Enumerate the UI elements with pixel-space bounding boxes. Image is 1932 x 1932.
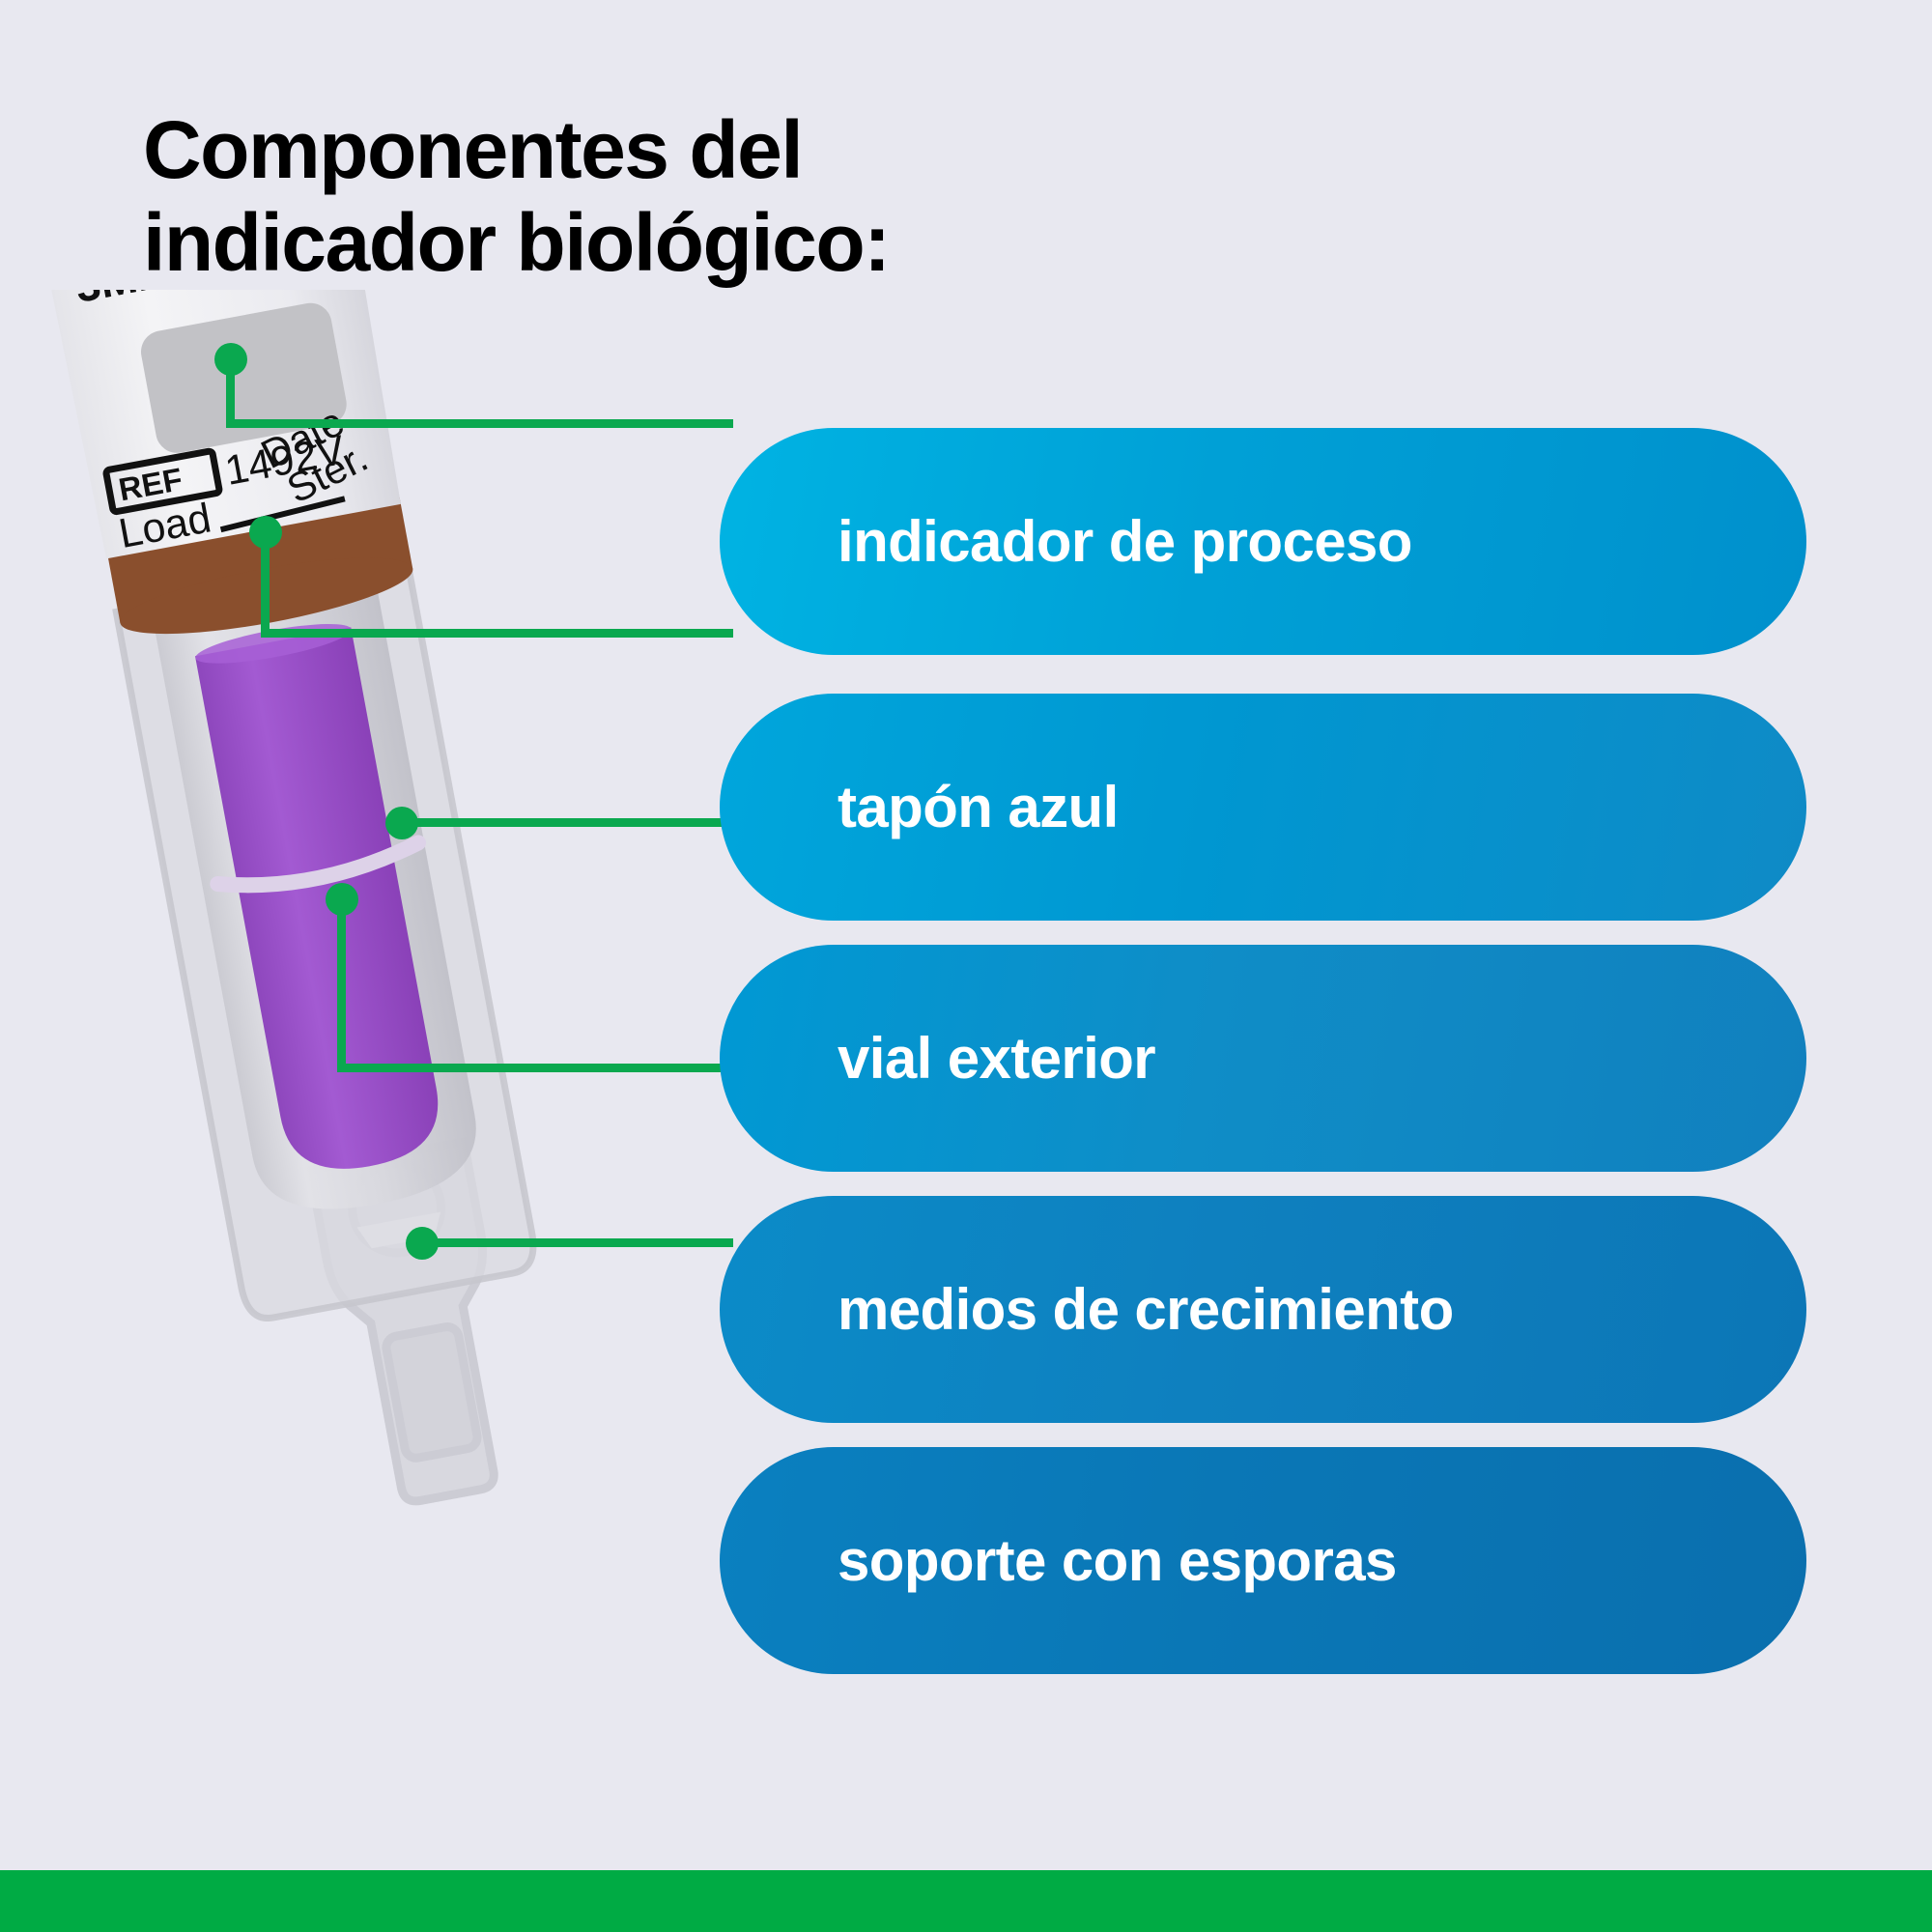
callout-tapon-azul[interactable]: tapón azul (720, 694, 1806, 921)
callout-label: indicador de proceso (838, 511, 1412, 572)
callout-medios-de-crecimiento[interactable]: medios de crecimiento (720, 1196, 1806, 1423)
connector-line-process-indicator (226, 419, 733, 428)
callout-label: tapón azul (838, 777, 1119, 838)
callout-label: soporte con esporas (838, 1530, 1397, 1591)
page-title: Componentes del indicador biológico: (143, 104, 1012, 290)
callout-vial-exterior[interactable]: vial exterior (720, 945, 1806, 1172)
connector-vertical-cap (261, 531, 270, 633)
footer-accent-bar (0, 1870, 1932, 1932)
callout-label: medios de crecimiento (838, 1279, 1454, 1340)
callout-label: vial exterior (838, 1028, 1155, 1089)
connector-vertical-process-indicator (226, 357, 235, 425)
connector-vertical-growth-media (337, 898, 346, 1067)
connector-line-outer-vial (400, 818, 733, 827)
callout-soporte-con-esporas[interactable]: soporte con esporas (720, 1447, 1806, 1674)
callout-indicador-de-proceso[interactable]: indicador de proceso (720, 428, 1806, 655)
infographic-canvas: Componentes del indicador biológico: (0, 0, 1932, 1932)
connector-line-spore-strip (420, 1238, 733, 1247)
connector-line-cap (261, 629, 733, 638)
connector-line-growth-media (337, 1064, 733, 1072)
